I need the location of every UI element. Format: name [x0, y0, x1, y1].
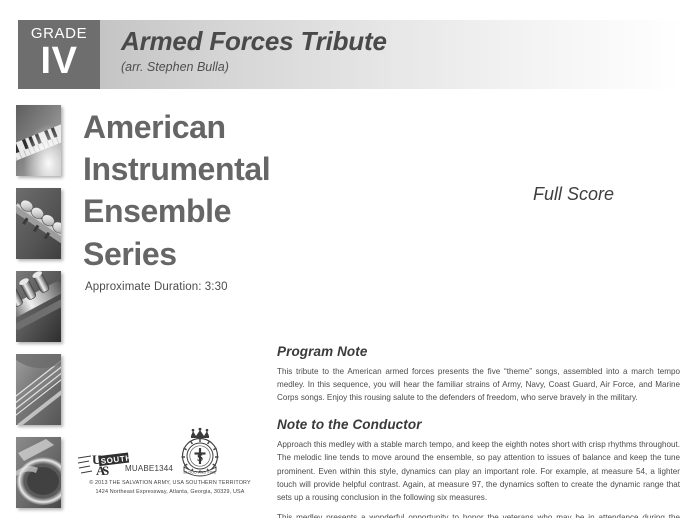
grade-numeral: IV: [18, 42, 100, 80]
copyright-line-1: © 2013 THE SALVATION ARMY, USA SOUTHERN …: [70, 479, 270, 488]
series-line-4: Series: [83, 233, 413, 275]
instrument-photo-strip: [16, 105, 62, 518]
svg-text:S: S: [197, 452, 203, 464]
work-title: Armed Forces Tribute: [121, 28, 387, 55]
publisher-block: U A SOUTH S MUABE1344: [70, 425, 270, 505]
grade-label: GRADE: [18, 26, 100, 41]
conductor-note-paragraph-1: Approach this medley with a stable march…: [277, 438, 680, 504]
usa-south-logo: U A SOUTH S: [78, 449, 130, 479]
series-line-2: Instrumental: [83, 148, 413, 190]
notes-column: Program Note This tribute to the America…: [277, 344, 680, 518]
program-note-heading: Program Note: [277, 344, 680, 359]
svg-text:S: S: [102, 463, 109, 478]
series-title: American Instrumental Ensemble Series: [83, 106, 413, 275]
flute-keys-photo: [16, 188, 61, 259]
salvation-army-crest-icon: S BLOOD AND FIRE: [173, 427, 227, 481]
score-cover-page: GRADE IV Armed Forces Tribute (arr. Step…: [0, 0, 700, 518]
trumpet-valves-photo: [16, 271, 61, 342]
header-band: GRADE IV Armed Forces Tribute (arr. Step…: [18, 20, 682, 89]
score-type-label: Full Score: [533, 184, 614, 205]
copyright-block: © 2013 THE SALVATION ARMY, USA SOUTHERN …: [70, 479, 270, 498]
strings-bow-photo: [16, 354, 61, 425]
title-block: Armed Forces Tribute (arr. Stephen Bulla…: [121, 28, 387, 74]
catalog-number: MUABE1344: [125, 464, 173, 473]
series-line-1: American: [83, 106, 413, 148]
approximate-duration: Approximate Duration: 3:30: [85, 281, 228, 293]
crest-motto: BLOOD AND FIRE: [184, 471, 217, 475]
program-note-paragraph: This tribute to the American armed force…: [277, 365, 680, 404]
piano-keys-photo: [16, 105, 61, 176]
conductor-note-paragraph-2: This medley presents a wonderful opportu…: [277, 511, 680, 518]
series-line-3: Ensemble: [83, 190, 413, 232]
copyright-line-2: 1424 Northeast Expressway, Atlanta, Geor…: [70, 488, 270, 497]
grade-badge: GRADE IV: [18, 20, 100, 89]
conductor-note-heading: Note to the Conductor: [277, 417, 680, 432]
arranger-credit: (arr. Stephen Bulla): [121, 60, 387, 74]
brass-bell-photo: [16, 437, 61, 508]
